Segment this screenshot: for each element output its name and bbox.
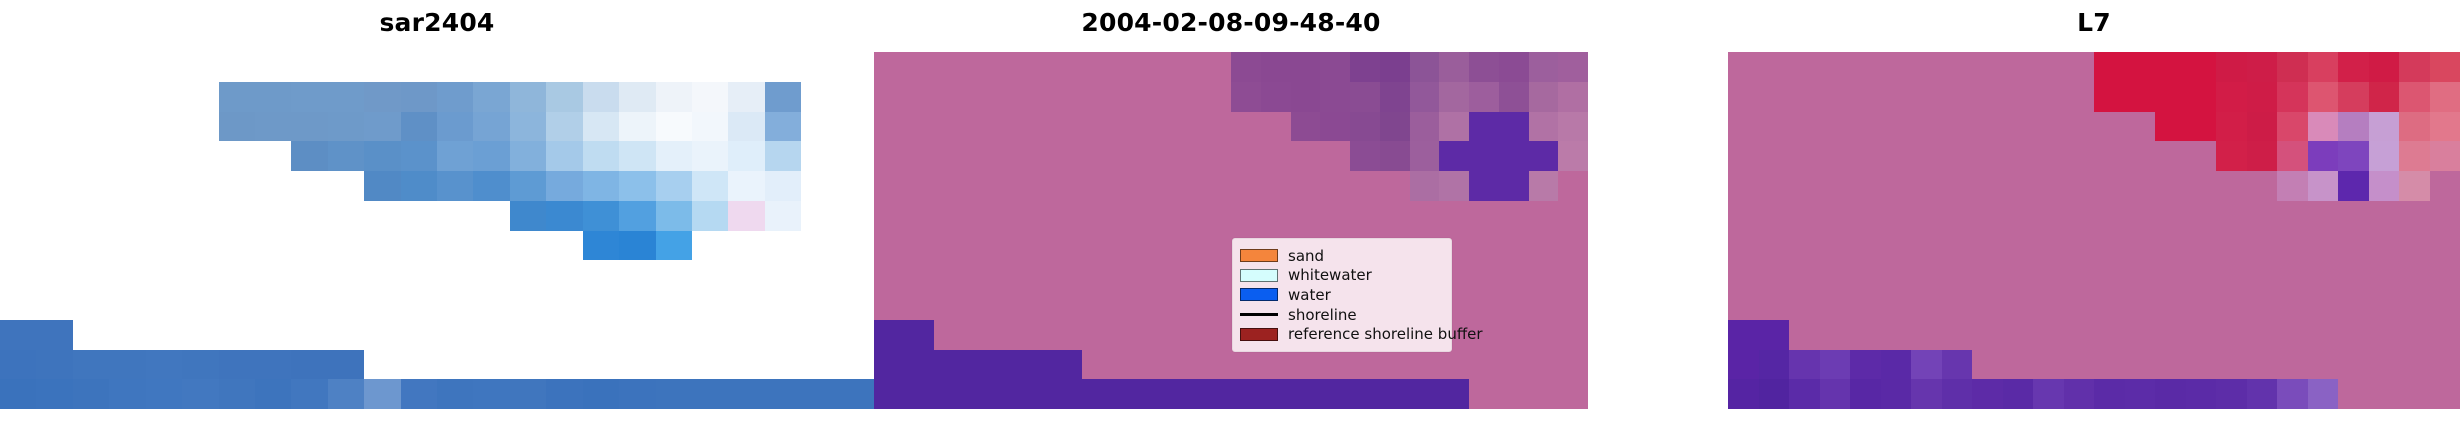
legend-swatch-shoreline	[1240, 308, 1278, 321]
raster-scene	[874, 52, 1588, 409]
axes-l7	[1728, 52, 2460, 409]
panel-sar2404: sar2404	[0, 0, 874, 425]
legend-item-shoreline[interactable]: shoreline	[1240, 305, 1443, 325]
axes-scene: sand whitewater water shoreline referenc	[874, 52, 1588, 409]
raster-l7	[1728, 52, 2460, 409]
raster-sar2404	[0, 52, 874, 409]
legend-swatch-sand	[1240, 249, 1278, 262]
legend-swatch-reference-shoreline-buffer	[1240, 328, 1278, 341]
legend-label-reference-shoreline-buffer: reference shoreline buffer	[1288, 326, 1483, 342]
legend-label-whitewater: whitewater	[1288, 267, 1372, 283]
legend: sand whitewater water shoreline referenc	[1232, 238, 1452, 352]
legend-swatch-whitewater	[1240, 269, 1278, 282]
figure-canvas: sar2404 2004-02-08-09-48-40 sand whitewa…	[0, 0, 2460, 425]
panel-title-l7: L7	[1728, 8, 2460, 38]
legend-item-reference-shoreline-buffer[interactable]: reference shoreline buffer	[1240, 324, 1443, 344]
panel-title-scene: 2004-02-08-09-48-40	[874, 8, 1588, 38]
panel-title-sar2404: sar2404	[0, 8, 874, 38]
panel-l7: L7	[1728, 0, 2460, 425]
legend-item-water[interactable]: water	[1240, 285, 1443, 305]
legend-item-sand[interactable]: sand	[1240, 246, 1443, 266]
legend-swatch-water	[1240, 288, 1278, 301]
legend-label-water: water	[1288, 287, 1331, 303]
legend-label-sand: sand	[1288, 248, 1324, 264]
legend-label-shoreline: shoreline	[1288, 307, 1357, 323]
axes-sar2404	[0, 52, 874, 409]
legend-item-whitewater[interactable]: whitewater	[1240, 266, 1443, 286]
panel-scene: 2004-02-08-09-48-40 sand whitewater wate…	[874, 0, 1588, 425]
